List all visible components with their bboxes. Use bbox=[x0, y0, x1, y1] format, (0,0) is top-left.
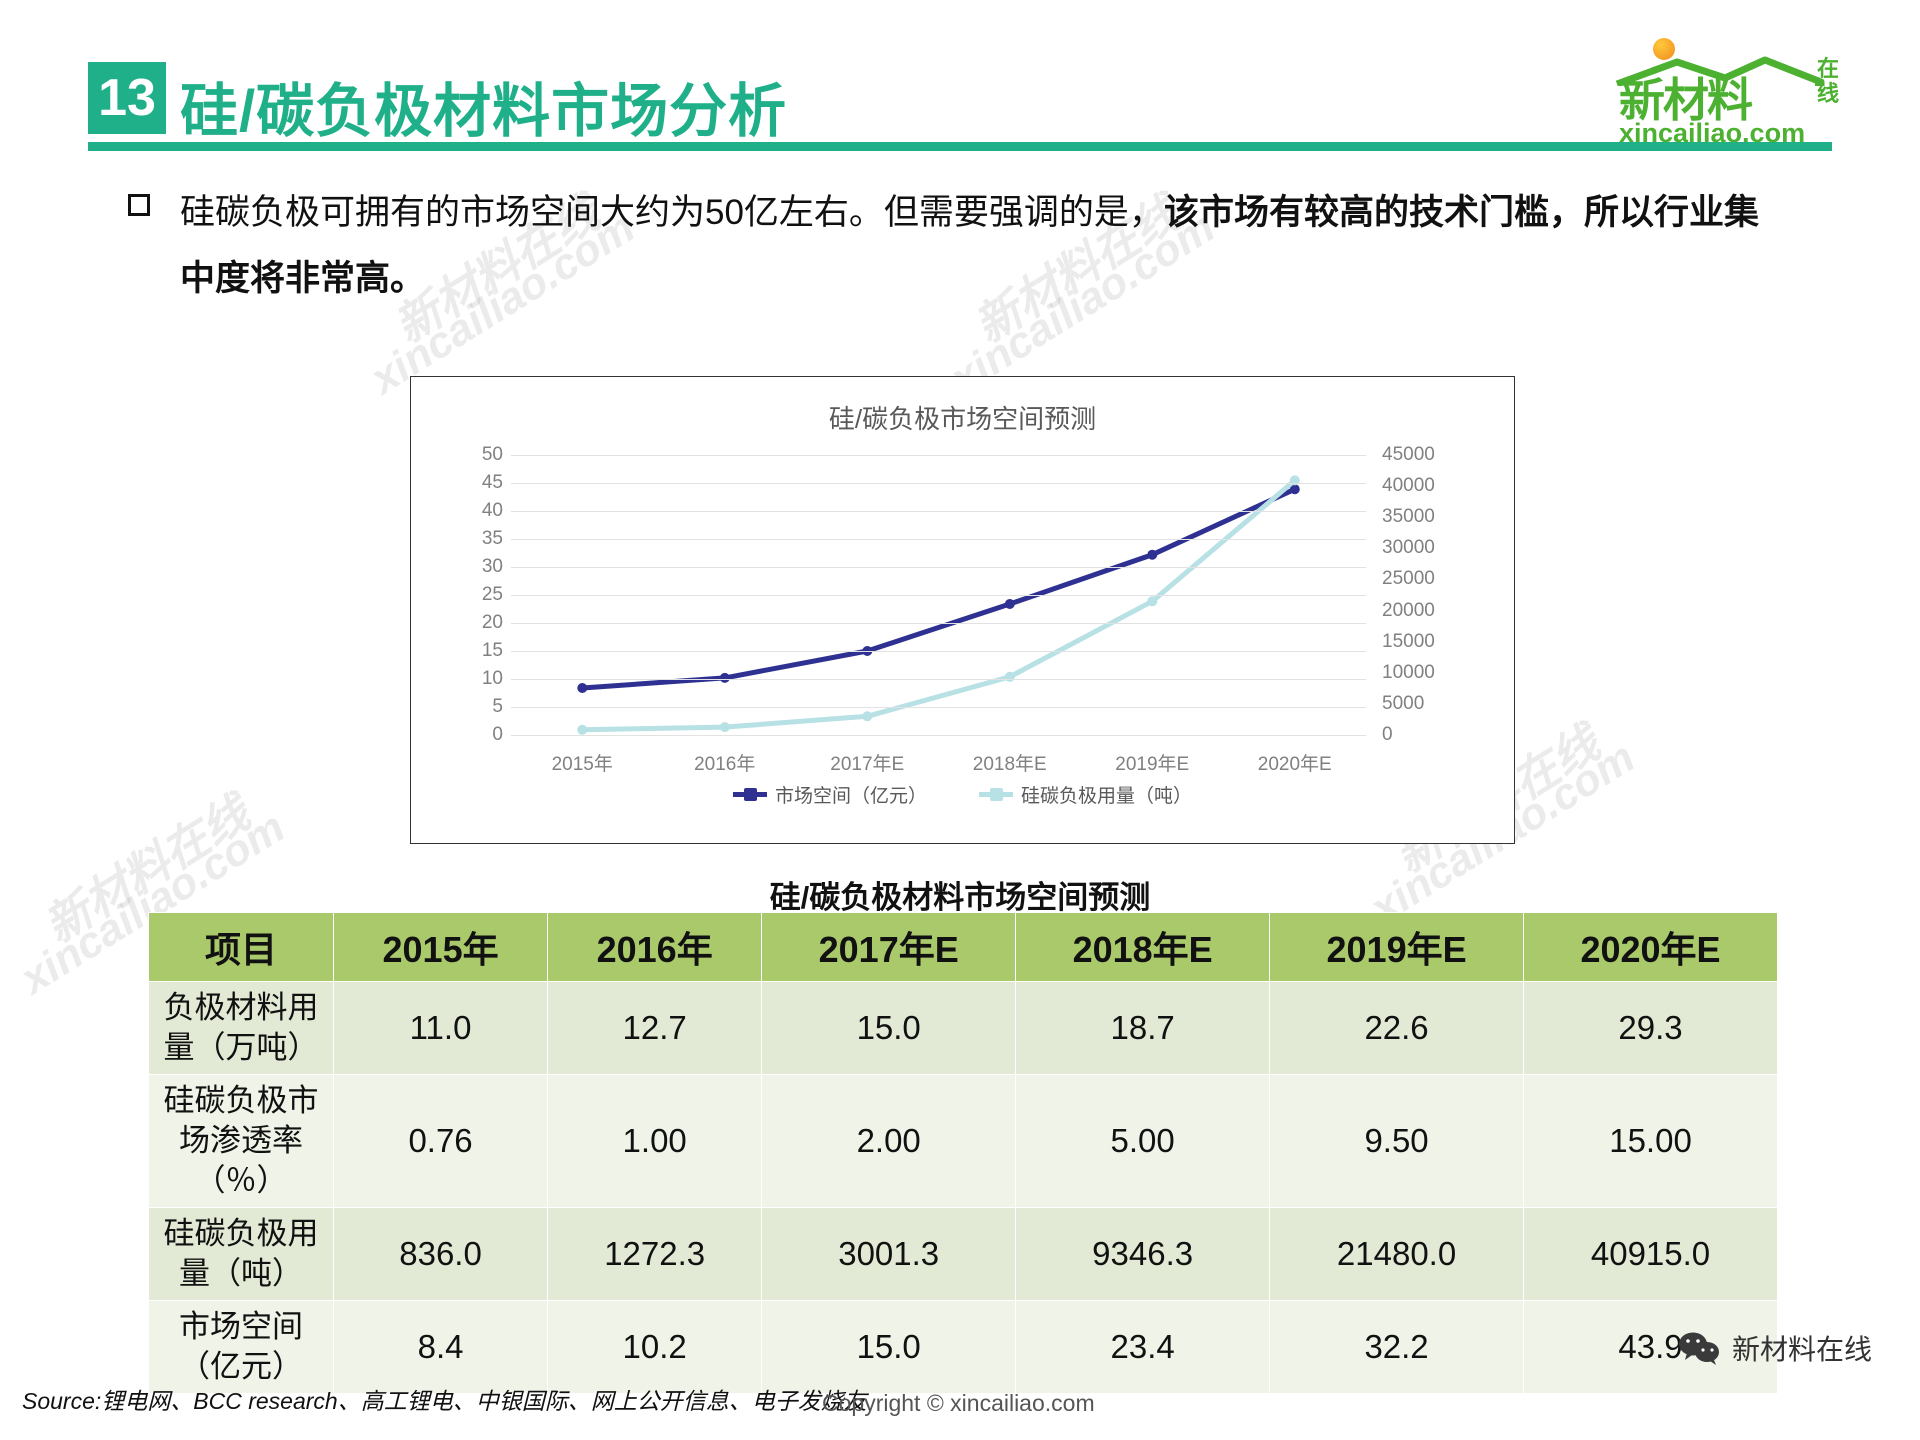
brand-logo: 新材料 在线 xincailiao.com bbox=[1605, 34, 1875, 150]
chart-gridline bbox=[511, 539, 1366, 540]
table-cell: 5.00 bbox=[1016, 1075, 1270, 1208]
chart-title: 硅/碳负极市场空间预测 bbox=[411, 399, 1514, 436]
y-axis-tick-left: 50 bbox=[482, 444, 503, 466]
table-row-label: 负极材料用量（万吨） bbox=[149, 982, 334, 1075]
table-cell: 23.4 bbox=[1016, 1301, 1270, 1394]
y-axis-tick-left: 10 bbox=[482, 668, 503, 690]
y-axis-tick-left: 5 bbox=[492, 696, 503, 718]
table-cell: 8.4 bbox=[334, 1301, 548, 1394]
table-row: 市场空间（亿元）8.410.215.023.432.243.9 bbox=[149, 1301, 1778, 1394]
chart-data-point bbox=[1147, 550, 1157, 560]
chart-gridline bbox=[511, 595, 1366, 596]
slide-number-badge: 13 bbox=[88, 62, 166, 134]
chart-gridline bbox=[511, 455, 1366, 456]
wechat-label: 新材料在线 bbox=[1732, 1328, 1872, 1368]
table-title: 硅/碳负极材料市场空间预测 bbox=[0, 872, 1920, 917]
chart-data-point bbox=[720, 673, 730, 683]
chart-gridline bbox=[511, 679, 1366, 680]
y-axis-tick-left: 0 bbox=[492, 724, 503, 746]
y-axis-tick-left: 30 bbox=[482, 556, 503, 578]
y-axis-tick-left: 40 bbox=[482, 500, 503, 522]
table-cell: 10.2 bbox=[548, 1301, 762, 1394]
y-axis-tick-right: 45000 bbox=[1382, 444, 1435, 466]
table-col-header-year: 2019年E bbox=[1270, 913, 1524, 982]
table-row: 负极材料用量（万吨）11.012.715.018.722.629.3 bbox=[149, 982, 1778, 1075]
y-axis-tick-left: 25 bbox=[482, 584, 503, 606]
table-cell: 9346.3 bbox=[1016, 1208, 1270, 1301]
header-divider bbox=[88, 142, 1832, 151]
wechat-icon bbox=[1678, 1330, 1720, 1366]
chart-series-line bbox=[582, 480, 1295, 729]
slide-header: 13 硅/碳负极材料市场分析 bbox=[88, 62, 1832, 154]
table-col-header-item: 项目 bbox=[149, 913, 334, 982]
table-cell: 836.0 bbox=[334, 1208, 548, 1301]
chart-card: 硅/碳负极市场空间预测 0510152025303540455005000100… bbox=[410, 376, 1515, 844]
table-cell: 32.2 bbox=[1270, 1301, 1524, 1394]
x-axis-tick: 2020年E bbox=[1258, 749, 1332, 776]
table-col-header-year: 2020年E bbox=[1524, 913, 1778, 982]
y-axis-tick-right: 30000 bbox=[1382, 537, 1435, 559]
table-col-header-year: 2015年 bbox=[334, 913, 548, 982]
table-cell: 11.0 bbox=[334, 982, 548, 1075]
table-cell: 1.00 bbox=[548, 1075, 762, 1208]
y-axis-tick-right: 35000 bbox=[1382, 506, 1435, 528]
y-axis-tick-right: 10000 bbox=[1382, 662, 1435, 684]
x-axis-tick: 2017年E bbox=[830, 749, 904, 776]
y-axis-tick-right: 20000 bbox=[1382, 600, 1435, 622]
x-axis-tick: 2015年 bbox=[552, 749, 613, 776]
x-axis-tick: 2016年 bbox=[694, 749, 755, 776]
table-body: 负极材料用量（万吨）11.012.715.018.722.629.3硅碳负极市场… bbox=[149, 982, 1778, 1394]
logo-side-text: 在线 bbox=[1817, 56, 1859, 106]
chart-gridline bbox=[511, 623, 1366, 624]
table-cell: 15.0 bbox=[762, 1301, 1016, 1394]
chart-gridline bbox=[511, 511, 1366, 512]
table-cell: 0.76 bbox=[334, 1075, 548, 1208]
y-axis-tick-right: 40000 bbox=[1382, 475, 1435, 497]
chart-data-point bbox=[862, 711, 872, 721]
legend-label: 硅碳负极用量（吨） bbox=[1021, 781, 1192, 808]
bullet-square-icon bbox=[128, 194, 150, 216]
bullet-text-plain: 硅碳负极可拥有的市场空间大约为50亿左右。但需要强调的是， bbox=[180, 193, 1164, 232]
table-cell: 21480.0 bbox=[1270, 1208, 1524, 1301]
table-cell: 1272.3 bbox=[548, 1208, 762, 1301]
table-row: 硅碳负极市场渗透率（％）0.761.002.005.009.5015.00 bbox=[149, 1075, 1778, 1208]
table-col-header-year: 2017年E bbox=[762, 913, 1016, 982]
legend-swatch-icon bbox=[733, 792, 767, 797]
table-cell: 9.50 bbox=[1270, 1075, 1524, 1208]
chart-gridline bbox=[511, 651, 1366, 652]
chart-gridline bbox=[511, 707, 1366, 708]
chart-legend: 市场空间（亿元）硅碳负极用量（吨） bbox=[411, 781, 1514, 808]
table-cell: 15.0 bbox=[762, 982, 1016, 1075]
chart-data-point bbox=[1005, 672, 1015, 682]
x-axis-tick: 2019年E bbox=[1115, 749, 1189, 776]
table-cell: 2.00 bbox=[762, 1075, 1016, 1208]
table-cell: 40915.0 bbox=[1524, 1208, 1778, 1301]
table-cell: 3001.3 bbox=[762, 1208, 1016, 1301]
chart-data-point bbox=[720, 722, 730, 732]
y-axis-tick-left: 15 bbox=[482, 640, 503, 662]
table-header-row: 项目2015年2016年2017年E2018年E2019年E2020年E bbox=[149, 913, 1778, 982]
legend-label: 市场空间（亿元） bbox=[775, 781, 927, 808]
y-axis-tick-right: 0 bbox=[1382, 724, 1393, 746]
table-row: 硅碳负极用量（吨）836.01272.33001.39346.321480.04… bbox=[149, 1208, 1778, 1301]
table-cell: 18.7 bbox=[1016, 982, 1270, 1075]
y-axis-tick-left: 20 bbox=[482, 612, 503, 634]
table-cell: 15.00 bbox=[1524, 1075, 1778, 1208]
logo-url-text: xincailiao.com bbox=[1619, 118, 1805, 149]
chart-legend-item: 市场空间（亿元） bbox=[733, 781, 927, 808]
chart-gridline bbox=[511, 483, 1366, 484]
y-axis-tick-right: 5000 bbox=[1382, 693, 1424, 715]
chart-data-point bbox=[577, 725, 587, 735]
table-col-header-year: 2016年 bbox=[548, 913, 762, 982]
chart-gridline bbox=[511, 735, 1366, 736]
legend-swatch-icon bbox=[979, 792, 1013, 797]
bullet-block: 硅碳负极可拥有的市场空间大约为50亿左右。但需要强调的是，该市场有较高的技术门槛… bbox=[128, 180, 1788, 312]
y-axis-tick-left: 45 bbox=[482, 472, 503, 494]
source-note: Source:锂电网、BCC research、高工锂电、中银国际、网上公开信息… bbox=[22, 1382, 867, 1416]
chart-legend-item: 硅碳负极用量（吨） bbox=[979, 781, 1192, 808]
market-forecast-table: 项目2015年2016年2017年E2018年E2019年E2020年E 负极材… bbox=[148, 912, 1778, 1394]
page-title: 硅/碳负极材料市场分析 bbox=[180, 64, 787, 148]
chart-data-point bbox=[1147, 596, 1157, 606]
y-axis-tick-right: 25000 bbox=[1382, 568, 1435, 590]
bullet-text: 硅碳负极可拥有的市场空间大约为50亿左右。但需要强调的是，该市场有较高的技术门槛… bbox=[180, 180, 1788, 312]
table-cell: 29.3 bbox=[1524, 982, 1778, 1075]
y-axis-tick-left: 35 bbox=[482, 528, 503, 550]
x-axis-tick: 2018年E bbox=[973, 749, 1047, 776]
chart-gridline bbox=[511, 567, 1366, 568]
wechat-badge: 新材料在线 bbox=[1678, 1328, 1872, 1368]
table-row-label: 硅碳负极市场渗透率（％） bbox=[149, 1075, 334, 1208]
y-axis-tick-right: 15000 bbox=[1382, 631, 1435, 653]
chart-data-point bbox=[577, 683, 587, 693]
table-cell: 12.7 bbox=[548, 982, 762, 1075]
copyright-note: Copyright © xincailiao.com bbox=[822, 1390, 1095, 1417]
chart-series-line bbox=[582, 489, 1295, 688]
chart-data-point bbox=[1005, 599, 1015, 609]
table-cell: 22.6 bbox=[1270, 982, 1524, 1075]
chart-plot-area: 0510152025303540455005000100001500020000… bbox=[511, 455, 1366, 735]
table-row-label: 硅碳负极用量（吨） bbox=[149, 1208, 334, 1301]
table-col-header-year: 2018年E bbox=[1016, 913, 1270, 982]
table-row-label: 市场空间（亿元） bbox=[149, 1301, 334, 1394]
